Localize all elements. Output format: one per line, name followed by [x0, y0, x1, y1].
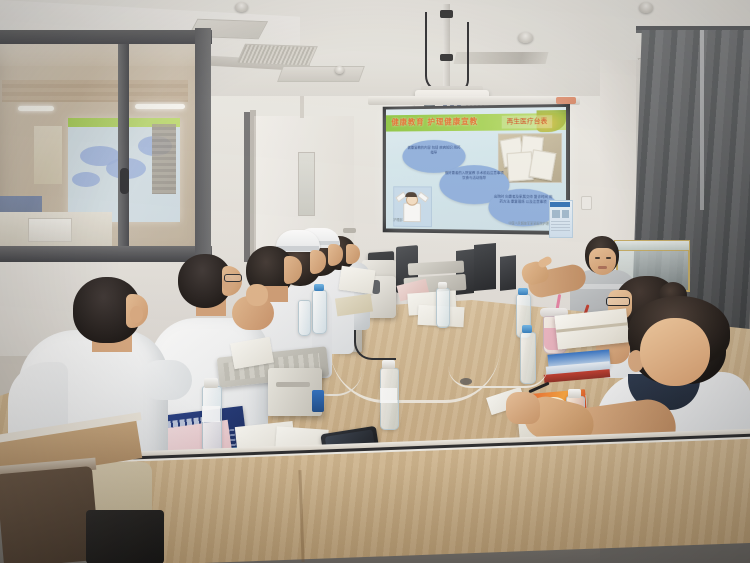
cable-connector — [460, 378, 472, 385]
window-mullion — [118, 36, 129, 248]
slide-title: 健康教育 护理健康宣教 — [391, 116, 503, 130]
smoke-detector-icon — [518, 32, 533, 43]
person-1-arm — [140, 360, 192, 400]
person-speaker-eye — [595, 257, 600, 259]
person-foreground-head — [640, 318, 710, 386]
person-speaker-eye — [606, 257, 611, 259]
eyeglasses-icon — [224, 274, 242, 282]
projector-cable-clamp — [440, 10, 453, 18]
bottle-cap — [438, 282, 447, 289]
window-frame-top — [0, 30, 212, 44]
bottle-cap — [382, 360, 395, 369]
slide-source-note: 护理部 — [393, 217, 421, 223]
water-bottle[interactable] — [436, 288, 450, 328]
person-1-ear — [130, 306, 143, 323]
chair[interactable] — [86, 510, 164, 563]
water-bottle[interactable] — [298, 300, 311, 336]
eyeglasses-icon — [606, 297, 630, 306]
slide-card — [529, 149, 557, 181]
door-vision-panel — [298, 152, 315, 216]
water-bottle[interactable] — [312, 290, 327, 334]
computer-monitor — [474, 243, 496, 291]
computer-monitor — [500, 255, 516, 291]
door-handle[interactable] — [343, 228, 356, 233]
light-switch[interactable] — [581, 196, 592, 210]
bottle-label — [380, 388, 397, 403]
bottle-cap — [568, 389, 581, 398]
window-glass-reflection — [0, 36, 208, 262]
chair[interactable] — [0, 466, 100, 563]
air-vent-icon — [236, 44, 318, 67]
slide-footer-note: 中国人民解放军某某医院护理部制作 — [483, 220, 558, 227]
wall-poster-image — [552, 210, 560, 218]
bottle-label — [202, 406, 220, 422]
bottle-cap — [522, 325, 532, 333]
person-foreground-hand — [506, 392, 540, 424]
tower-badge — [312, 390, 324, 412]
sprinkler-head-icon — [639, 2, 653, 13]
slide-bubble-text: 健康宣教的内容 包括 疾病知识 用药指导 — [402, 140, 465, 156]
loose-paper — [338, 266, 375, 294]
air-vent-icon — [277, 66, 365, 82]
sprinkler-head-icon — [335, 66, 344, 74]
bottle-cap — [314, 284, 324, 291]
slide-bubble-text: 做好患者的入院宣教 手术前后注意事项 饮食与活动指导 — [439, 165, 509, 181]
window-frame-bottom — [0, 246, 212, 262]
window-frame-post — [195, 28, 211, 278]
person-speaker-mouth — [598, 266, 607, 269]
screen-housing-endcap — [556, 97, 576, 104]
wall-poster-text — [551, 221, 570, 233]
sprinkler-head-icon — [235, 2, 248, 12]
bottle-cap — [204, 378, 218, 388]
bottle-cap — [518, 288, 528, 295]
slide-badge: 再生医疗台表 — [502, 115, 552, 128]
projector-cable-clamp — [440, 54, 453, 61]
wall-poster-image — [562, 210, 569, 218]
tower-drive-slot — [276, 382, 310, 387]
wall-seam — [300, 96, 304, 118]
wall-poster-header — [550, 202, 570, 207]
slide-bubble-text: 出院时 向患者及家属交待 复诊时间 用药方法 康复锻炼 以及注意事项 — [488, 189, 558, 205]
slide-figure-hair — [405, 192, 417, 197]
projection-screen: 健康教育 护理健康宣教 再生医疗台表 健康宣教的内容 包括 疾病知识 用药指导 … — [386, 107, 566, 231]
person-2-hand — [246, 284, 268, 306]
display-cabinet-top — [614, 240, 690, 251]
person-speaker-face — [589, 248, 616, 275]
window-handle[interactable] — [120, 168, 129, 194]
photograph-scene: 健康教育 护理健康宣教 再生医疗台表 健康宣教的内容 包括 疾病知识 用药指导 … — [0, 0, 750, 563]
